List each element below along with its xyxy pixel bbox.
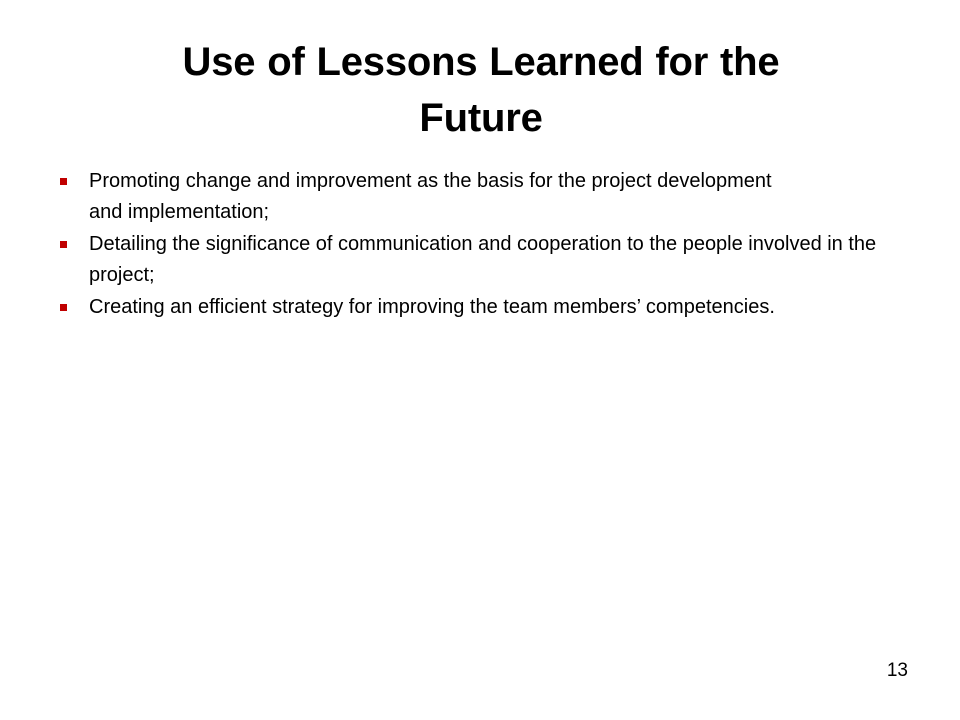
square-bullet-icon <box>60 178 67 185</box>
list-item-text: Detailing the significance of communicat… <box>89 229 929 291</box>
list-item: Detailing the significance of communicat… <box>58 229 929 291</box>
list-item-text: Creating an efficient strategy for impro… <box>89 292 819 323</box>
list-item: Creating an efficient strategy for impro… <box>58 292 819 323</box>
slide-canvas: Use of Lessons Learned for the Future Pr… <box>0 0 960 720</box>
page-number: 13 <box>887 660 908 682</box>
square-bullet-icon <box>60 241 67 248</box>
list-item: Promoting change and improvement as the … <box>58 166 809 228</box>
list-item-text: Promoting change and improvement as the … <box>89 166 809 228</box>
slide-title-block: Use of Lessons Learned for the Future <box>120 34 842 146</box>
square-bullet-icon <box>60 304 67 311</box>
bullet-list: Promoting change and improvement as the … <box>58 166 898 323</box>
page-title: Use of Lessons Learned for the Future <box>120 34 842 146</box>
